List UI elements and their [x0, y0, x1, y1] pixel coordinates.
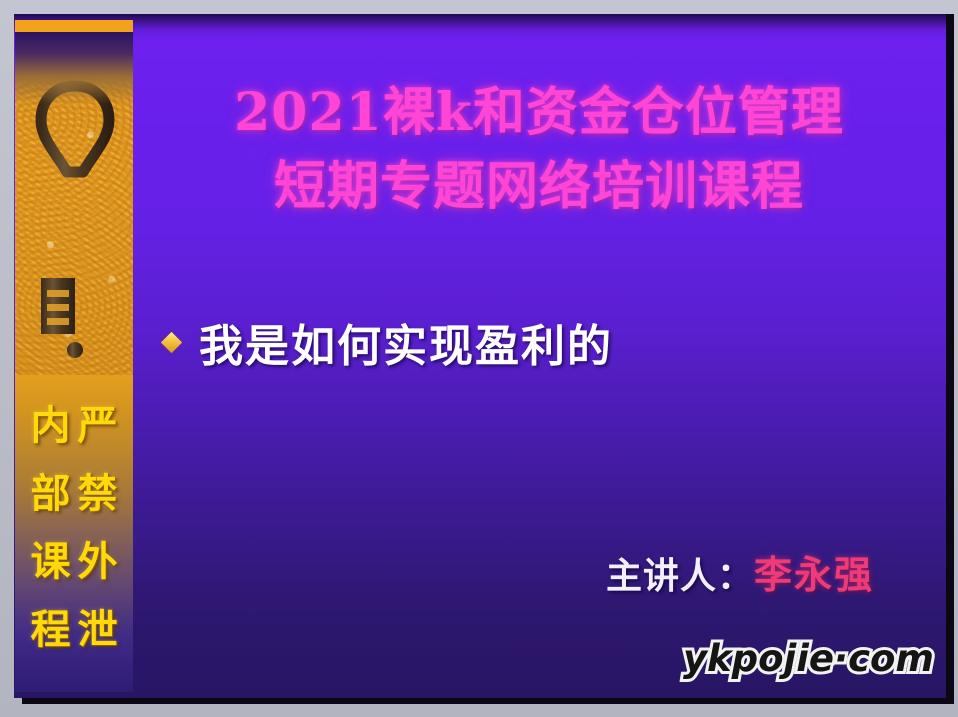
slide-top-shading: [14, 14, 946, 40]
bullet-item-label: 我是如何实现盈利的: [199, 310, 613, 374]
sidebar-row: 部 禁: [15, 460, 133, 528]
title-line-1: 2021裸k和资金仓位管理: [132, 76, 946, 150]
slide-canvas: 内 严 部 禁 课 外 程 泄 2021裸k和资金仓位管理 短期: [14, 14, 946, 698]
site-watermark: ykpojie·com: [683, 637, 934, 680]
bullet-item: 我是如何实现盈利的: [164, 310, 613, 374]
presenter-line: 主讲人：李永强: [14, 544, 946, 599]
watermark-text: ykpojie·com: [683, 637, 934, 680]
presentation-slide-frame: 内 严 部 禁 课 外 程 泄 2021裸k和资金仓位管理 短期: [0, 0, 958, 717]
sidebar-char: 内: [31, 406, 71, 446]
sidebar-char: 严: [78, 406, 118, 446]
sidebar-char: 程: [31, 610, 71, 650]
sidebar-row: 内 严: [15, 392, 133, 460]
sidebar-warning-text: 内 严 部 禁 课 外 程 泄: [15, 392, 133, 664]
sidebar-char: 部: [31, 474, 71, 514]
key-photo-top-fade: [15, 32, 133, 104]
sidebar-char: 禁: [78, 474, 118, 514]
diamond-bullet-icon: [161, 331, 182, 352]
title-line-2: 短期专题网络培训课程: [132, 150, 946, 224]
key-photograph: [15, 32, 133, 375]
slide-title: 2021裸k和资金仓位管理 短期专题网络培训课程: [132, 76, 946, 224]
presenter-label: 主讲人：: [606, 556, 754, 597]
sidebar-row: 程 泄: [15, 596, 133, 664]
antique-key-icon: [33, 80, 117, 370]
presenter-name: 李永强: [754, 553, 874, 597]
sidebar-char: 泄: [78, 610, 118, 650]
